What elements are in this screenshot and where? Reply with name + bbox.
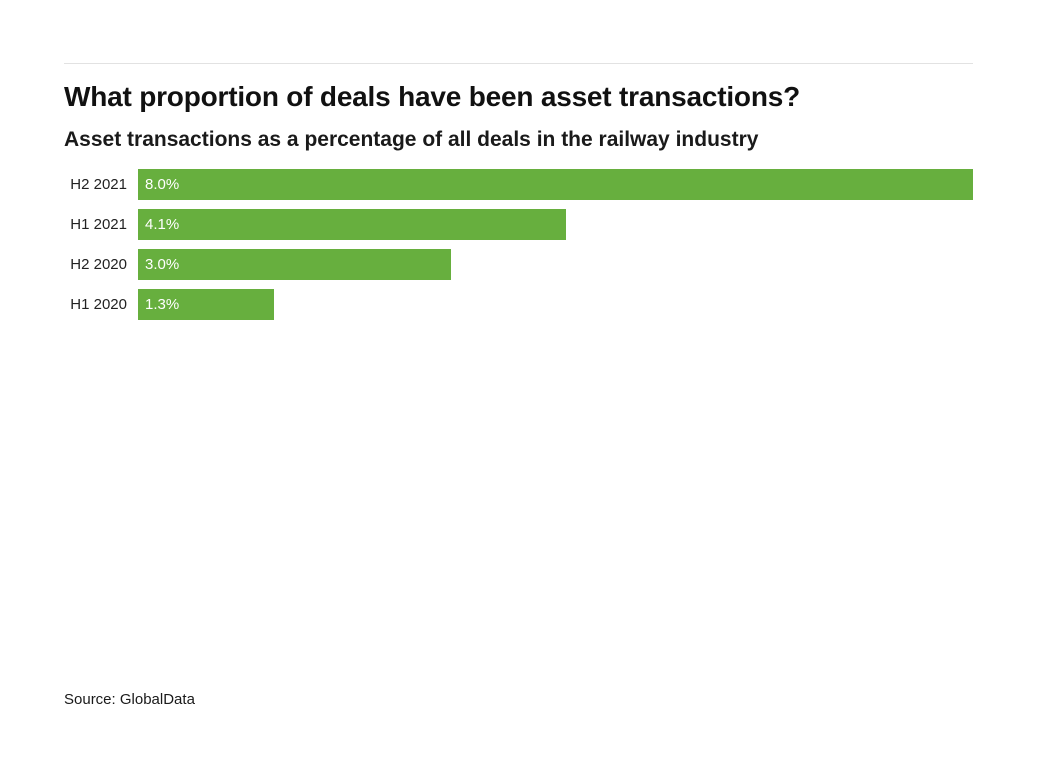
- category-label: H2 2021: [64, 169, 127, 200]
- bar-value-label: 3.0%: [145, 249, 179, 280]
- bar-chart-plot-area: H2 2021 8.0% H1 2021 4.1% H2 2020 3.0% H…: [64, 169, 973, 333]
- category-label: H1 2020: [64, 289, 127, 320]
- bar-row: H1 2020 1.3%: [64, 289, 973, 320]
- bar-value-label: 4.1%: [145, 209, 179, 240]
- bar: [138, 249, 451, 280]
- bar-track: 3.0%: [138, 249, 973, 280]
- bar-row: H1 2021 4.1%: [64, 209, 973, 240]
- bar: [138, 209, 566, 240]
- bar-value-label: 1.3%: [145, 289, 179, 320]
- bar-value-label: 8.0%: [145, 169, 179, 200]
- bar: [138, 169, 973, 200]
- bar-row: H2 2020 3.0%: [64, 249, 973, 280]
- source-note: Source: GlobalData: [64, 691, 195, 708]
- bar-track: 8.0%: [138, 169, 973, 200]
- chart-subtitle: Asset transactions as a percentage of al…: [64, 126, 984, 154]
- chart-figure: What proportion of deals have been asset…: [0, 0, 1038, 778]
- bar-track: 1.3%: [138, 289, 973, 320]
- bar-row: H2 2021 8.0%: [64, 169, 973, 200]
- category-label: H2 2020: [64, 249, 127, 280]
- chart-title: What proportion of deals have been asset…: [64, 80, 984, 114]
- category-label: H1 2021: [64, 209, 127, 240]
- header-divider: [64, 63, 973, 64]
- bar-track: 4.1%: [138, 209, 973, 240]
